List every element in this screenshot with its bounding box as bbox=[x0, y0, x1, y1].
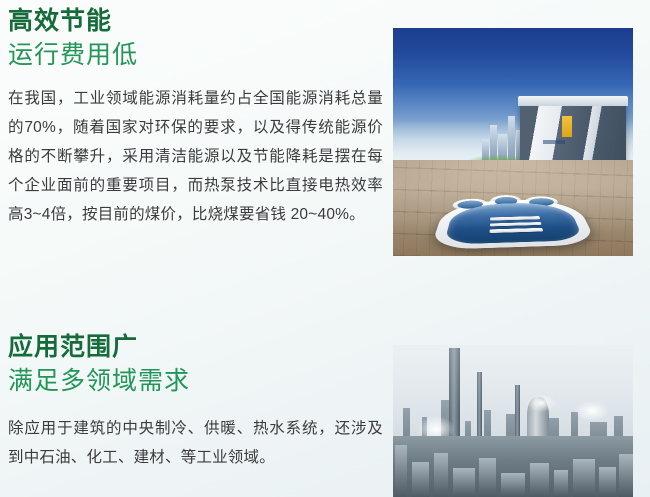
heat-pump-unit bbox=[520, 103, 626, 167]
pool-bar-top bbox=[490, 216, 540, 220]
promotional-poster: 高效节能 运行费用低 在我国，工业领域能源消耗量约占全国能源消耗总量的70%，随… bbox=[0, 0, 650, 497]
section-efficiency: 高效节能 运行费用低 在我国，工业领域能源消耗量约占全国能源消耗总量的70%，随… bbox=[8, 6, 383, 229]
pool-bar-middle bbox=[490, 222, 542, 227]
section-efficiency-heading-secondary: 运行费用低 bbox=[8, 39, 383, 72]
section-efficiency-heading-primary: 高效节能 bbox=[8, 6, 383, 37]
pool-logo-graphic bbox=[430, 198, 598, 250]
heat-pump-brand-badge bbox=[562, 116, 572, 137]
section-efficiency-body: 在我国，工业领域能源消耗量约占全国能源消耗总量的70%，随着国家对环保的要求，以… bbox=[8, 84, 383, 229]
heat-pump-photo bbox=[393, 28, 633, 256]
section-application: 应用范围广 满足多领域需求 除应用于建筑的中央制冷、供暖、热水系统，还涉及到中石… bbox=[8, 332, 383, 472]
section-application-body: 除应用于建筑的中央制冷、供暖、热水系统，还涉及到中石油、化工、建材、等工业领域。 bbox=[8, 414, 383, 472]
heat-pump-unit-top bbox=[518, 96, 628, 106]
refinery-atmospheric-haze bbox=[393, 345, 633, 497]
section-application-heading-primary: 应用范围广 bbox=[8, 332, 383, 363]
refinery-photo bbox=[393, 345, 633, 497]
section-application-heading-secondary: 满足多领域需求 bbox=[8, 365, 383, 398]
pool-bar-bottom bbox=[490, 228, 543, 233]
heat-pump-label-plate bbox=[543, 140, 564, 144]
